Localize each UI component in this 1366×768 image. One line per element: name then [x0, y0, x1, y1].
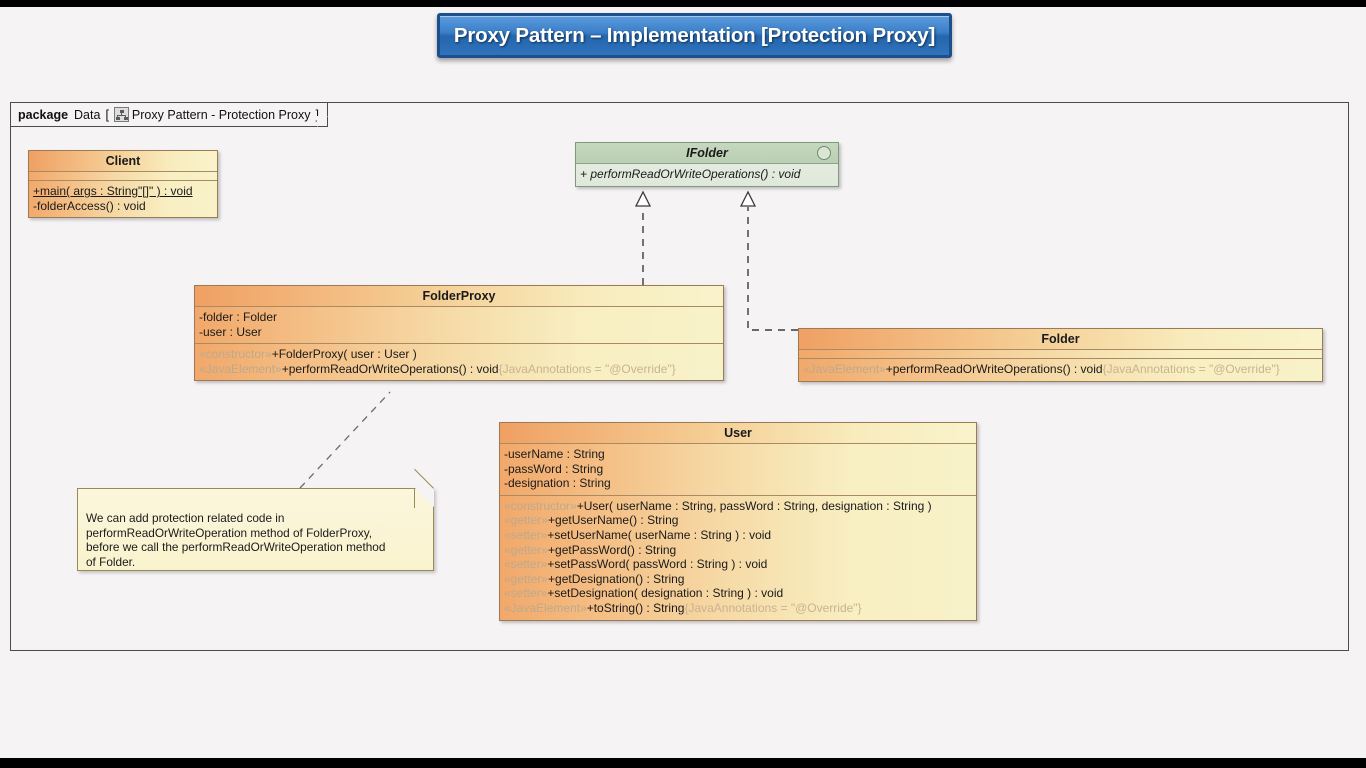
class-box-folderproxy[interactable]: FolderProxy -folder : Folder -user : Use…	[194, 285, 724, 381]
operation-row: «constructor»+FolderProxy( user : User )	[199, 347, 719, 362]
attributes-compartment-client	[29, 172, 217, 181]
operation-row: + performReadOrWriteOperations() : void	[580, 167, 834, 182]
operation-row: «JavaElement»+performReadOrWriteOperatio…	[803, 362, 1318, 377]
operation-row: -folderAccess() : void	[33, 199, 213, 214]
stereotype-label: «getter»	[504, 513, 548, 527]
attribute-row: -designation : String	[504, 476, 972, 491]
class-name-user: User	[500, 423, 976, 444]
operation-row: «setter»+setUserName( userName : String …	[504, 528, 972, 543]
stereotype-label: «JavaElement»	[504, 601, 587, 615]
operation-signature: +User( userName : String, passWord : Str…	[577, 499, 932, 513]
class-box-ifolder[interactable]: IFolder + performReadOrWriteOperations()…	[575, 142, 839, 187]
operations-compartment-client: +main( args : String"[]" ) : void -folde…	[29, 181, 217, 217]
operation-signature: +getUserName() : String	[548, 513, 678, 527]
class-name-folderproxy: FolderProxy	[195, 286, 723, 307]
operation-signature: +setUserName( userName : String ) : void	[547, 528, 771, 542]
attribute-row: -passWord : String	[504, 462, 972, 477]
operation-signature: +FolderProxy( user : User )	[272, 347, 417, 361]
attribute-row: -user : User	[199, 325, 719, 340]
note-line: We can add protection related code in	[86, 511, 425, 526]
class-name-ifolder: IFolder	[576, 143, 838, 164]
operation-row: «constructor»+User( userName : String, p…	[504, 499, 972, 514]
operations-compartment-ifolder: + performReadOrWriteOperations() : void	[576, 164, 838, 186]
operation-signature: +setDesignation( designation : String ) …	[547, 586, 783, 600]
class-box-user[interactable]: User -userName : String -passWord : Stri…	[499, 422, 977, 621]
class-name-ifolder-text: IFolder	[686, 146, 728, 160]
diagram-canvas: Proxy Pattern – Implementation [Protecti…	[0, 0, 1366, 768]
class-name-folder: Folder	[799, 329, 1322, 350]
stereotype-label: «constructor»	[504, 499, 577, 513]
attribute-row: -userName : String	[504, 447, 972, 462]
class-box-client[interactable]: Client +main( args : String"[]" ) : void…	[28, 150, 218, 218]
stereotype-label: «setter»	[504, 586, 547, 600]
stereotype-label: «JavaElement»	[199, 362, 282, 376]
class-diagram-icon	[114, 107, 129, 122]
operation-row: «JavaElement»+toString() : String{JavaAn…	[504, 601, 972, 616]
note-line: performReadOrWriteOperation method of Fo…	[86, 526, 425, 541]
operation-signature: +performReadOrWriteOperations() : void	[886, 362, 1103, 376]
operation-signature: +performReadOrWriteOperations() : void	[282, 362, 499, 376]
stereotype-label: «constructor»	[199, 347, 272, 361]
operation-signature: +getPassWord() : String	[548, 543, 676, 557]
attributes-compartment-folderproxy: -folder : Folder -user : User	[195, 307, 723, 344]
operation-row: «getter»+getPassWord() : String	[504, 543, 972, 558]
bottom-letterbox-bar	[0, 758, 1366, 768]
package-bracket-open: [	[105, 108, 108, 122]
operation-signature: +setPassWord( passWord : String ) : void	[547, 557, 767, 571]
operation-row: +main( args : String"[]" ) : void	[33, 184, 213, 199]
operation-row: «setter»+setDesignation( designation : S…	[504, 586, 972, 601]
operation-row: «getter»+getUserName() : String	[504, 513, 972, 528]
attribute-row: -folder : Folder	[199, 310, 719, 325]
package-header-tab: package Data [ Proxy Pattern - Protectio…	[10, 102, 328, 127]
stereotype-label: «setter»	[504, 557, 547, 571]
operations-compartment-folder: «JavaElement»+performReadOrWriteOperatio…	[799, 359, 1322, 381]
stereotype-label: «getter»	[504, 543, 548, 557]
stereotype-label: «JavaElement»	[803, 362, 886, 376]
note-fold-corner	[415, 488, 434, 507]
operation-row: «JavaElement»+performReadOrWriteOperatio…	[199, 362, 719, 377]
stereotype-label: «setter»	[504, 528, 547, 542]
note-line: of Folder.	[86, 555, 425, 570]
class-box-folder[interactable]: Folder «JavaElement»+performReadOrWriteO…	[798, 328, 1323, 382]
note-box[interactable]: We can add protection related code in pe…	[77, 488, 434, 571]
operation-row: «setter»+setPassWord( passWord : String …	[504, 557, 972, 572]
package-diagram-name: Proxy Pattern - Protection Proxy	[132, 108, 311, 122]
operation-annotation: {JavaAnnotations = "@Override"}	[1103, 362, 1280, 376]
operations-compartment-user: «constructor»+User( userName : String, p…	[500, 496, 976, 620]
operation-annotation: {JavaAnnotations = "@Override"}	[499, 362, 676, 376]
operation-signature: +getDesignation() : String	[548, 572, 684, 586]
package-keyword: package	[18, 108, 68, 122]
operation-signature: +toString() : String	[587, 601, 685, 615]
attributes-compartment-folder	[799, 350, 1322, 359]
package-tab-notch	[317, 116, 328, 127]
attributes-compartment-user: -userName : String -passWord : String -d…	[500, 444, 976, 496]
slide-title-text: Proxy Pattern – Implementation [Protecti…	[454, 24, 935, 48]
stereotype-label: «getter»	[504, 572, 548, 586]
note-fold-edge	[414, 488, 415, 508]
interface-ball-icon	[817, 146, 831, 160]
operations-compartment-folderproxy: «constructor»+FolderProxy( user : User )…	[195, 344, 723, 380]
class-name-client: Client	[29, 151, 217, 172]
operation-row: «getter»+getDesignation() : String	[504, 572, 972, 587]
note-line: before we call the performReadOrWriteOpe…	[86, 540, 425, 555]
package-name: Data	[74, 108, 100, 122]
slide-title-banner: Proxy Pattern – Implementation [Protecti…	[437, 13, 952, 58]
operation-annotation: {JavaAnnotations = "@Override"}	[684, 601, 861, 615]
top-letterbox-bar	[0, 0, 1366, 7]
